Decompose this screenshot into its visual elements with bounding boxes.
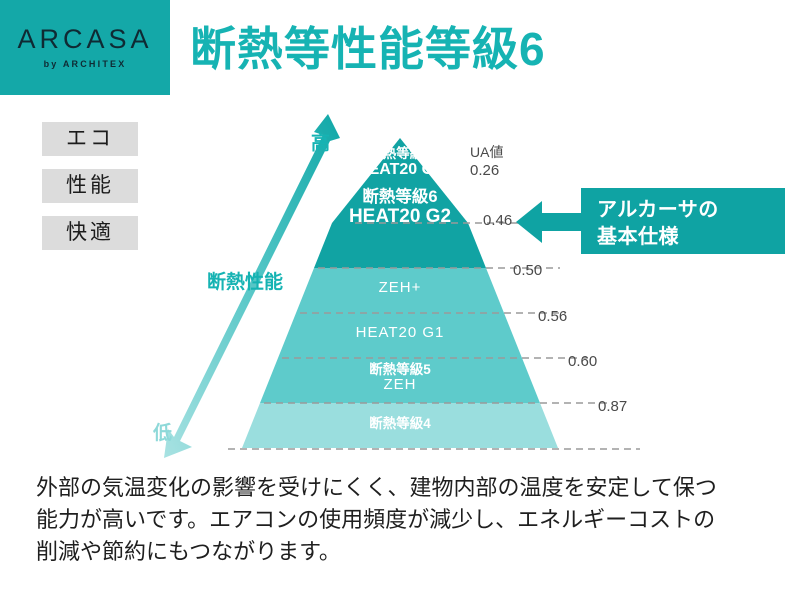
description-line-1: 外部の気温変化の影響を受けにくく、建物内部の温度を安定して保つ	[36, 472, 776, 504]
pyramid-tier-grade6	[314, 223, 486, 268]
callout-line-1: アルカーサの	[597, 197, 785, 224]
axis-label-low: 低	[153, 418, 172, 445]
ua-value-caption: UA値	[470, 142, 503, 162]
ua-value-heat20g1: 0.56	[538, 308, 567, 325]
description-paragraph: 外部の気温変化の影響を受けにくく、建物内部の温度を安定して保つ 能力が高いです。…	[36, 472, 776, 568]
callout-line-2: 基本仕様	[597, 224, 785, 251]
logo-tagline: by ARCHITEX	[44, 60, 127, 69]
axis-label-high: 高	[311, 128, 330, 155]
ua-value-grade5: 0.60	[568, 353, 597, 370]
ua-value-zehplus: 0.50	[513, 262, 542, 279]
ua-value-grade4: 0.87	[598, 398, 627, 415]
pyramid-tier-zehplus	[296, 268, 504, 313]
page-title: 断熱等性能等級6	[190, 26, 546, 72]
ua-value-grade7: 0.26	[470, 162, 499, 179]
description-line-2: 能力が高いです。エアコンの使用頻度が減少し、エネルギーコストの	[36, 504, 776, 536]
ua-value-grade6: 0.46	[483, 212, 512, 229]
pyramid-graphic	[0, 100, 800, 465]
axis-label-performance: 断熱性能	[207, 267, 283, 294]
brand-logo: ARCASA by ARCHITEX	[0, 0, 170, 95]
insulation-pyramid-chart: 断熱等級7 HEAT20 G3 断熱等級6 HEAT20 G2 ZEH+ HEA…	[0, 100, 800, 465]
pyramid-tier-grade4-shape	[242, 403, 558, 448]
pyramid-tier-heat20g1	[278, 313, 522, 358]
callout-arrow-icon	[516, 199, 586, 245]
pyramid-tier-grade7	[332, 138, 468, 223]
pyramid-tier-grade5	[260, 358, 540, 403]
slide-root: ARCASA by ARCHITEX 断熱等性能等級6 エコ 性能 快適	[0, 0, 800, 600]
description-line-3: 削減や節約にもつながります。	[36, 536, 776, 568]
callout-box-basic-spec: アルカーサの 基本仕様	[581, 188, 785, 254]
logo-wordmark: ARCASA	[17, 26, 152, 53]
